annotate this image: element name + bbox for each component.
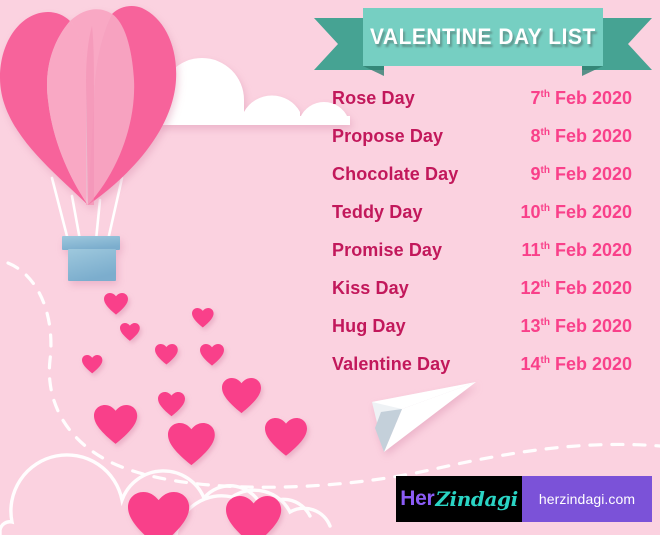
day-name: Valentine Day — [332, 354, 450, 375]
day-name: Rose Day — [332, 88, 415, 109]
date-number: 13 — [520, 316, 540, 336]
date-number: 12 — [520, 278, 540, 298]
date-suffix: th — [541, 317, 550, 328]
day-name: Propose Day — [332, 126, 443, 147]
brand-footer: HerZindagi herzindagi.com — [396, 476, 652, 522]
day-date: 11th Feb 2020 — [521, 240, 632, 261]
logo-text-her: Her — [400, 487, 434, 511]
date-suffix: th — [541, 241, 550, 252]
date-number: 10 — [520, 202, 540, 222]
date-rest: Feb 2020 — [550, 164, 632, 184]
day-name: Promise Day — [332, 240, 442, 261]
date-number: 9 — [530, 164, 540, 184]
banner-title-box: VALENTINE DAY LIST — [363, 8, 603, 66]
list-item: Propose Day 8th Feb 2020 — [332, 117, 632, 155]
day-date: 13th Feb 2020 — [520, 316, 632, 337]
day-date: 12th Feb 2020 — [520, 278, 632, 299]
valentine-week-list: Rose Day 7th Feb 2020 Propose Day 8th Fe… — [332, 79, 632, 383]
list-item: Rose Day 7th Feb 2020 — [332, 79, 632, 117]
balloon-basket — [62, 236, 120, 281]
date-suffix: th — [541, 279, 550, 290]
date-rest: Feb 2020 — [550, 88, 632, 108]
list-item: Promise Day 11th Feb 2020 — [332, 231, 632, 269]
heart-icon — [82, 293, 307, 535]
day-date: 10th Feb 2020 — [520, 202, 632, 223]
banner-ribbon: VALENTINE DAY LIST — [314, 8, 652, 76]
date-suffix: th — [541, 355, 550, 366]
website-url-badge[interactable]: herzindagi.com — [522, 476, 652, 522]
list-item: Valentine Day 14th Feb 2020 — [332, 345, 632, 383]
herzindagi-logo[interactable]: HerZindagi — [396, 476, 522, 522]
day-name: Chocolate Day — [332, 164, 458, 185]
list-item: Hug Day 13th Feb 2020 — [332, 307, 632, 345]
date-rest: Feb 2020 — [550, 240, 632, 260]
paper-plane-icon — [372, 382, 476, 452]
balloon-ropes — [52, 178, 122, 240]
page-title: VALENTINE DAY LIST — [370, 24, 596, 50]
valentine-day-list-poster: VALENTINE DAY LIST Rose Day 7th Feb 2020… — [0, 0, 660, 535]
day-date: 9th Feb 2020 — [530, 164, 632, 185]
date-rest: Feb 2020 — [550, 354, 632, 374]
logo-text-zindagi: Zindagi — [435, 487, 517, 511]
list-item: Teddy Day 10th Feb 2020 — [332, 193, 632, 231]
date-number: 8 — [530, 126, 540, 146]
list-item: Chocolate Day 9th Feb 2020 — [332, 155, 632, 193]
date-suffix: th — [541, 203, 550, 214]
date-suffix: th — [541, 127, 550, 138]
heart-hot-air-balloon-icon — [0, 6, 176, 281]
date-suffix: th — [541, 89, 550, 100]
day-name: Kiss Day — [332, 278, 409, 299]
day-date: 7th Feb 2020 — [530, 88, 632, 109]
date-rest: Feb 2020 — [550, 278, 632, 298]
date-number: 11 — [521, 240, 540, 260]
day-name: Hug Day — [332, 316, 406, 337]
date-suffix: th — [541, 165, 550, 176]
day-date: 8th Feb 2020 — [530, 126, 632, 147]
website-url-text: herzindagi.com — [539, 491, 635, 507]
date-number: 14 — [520, 354, 540, 374]
list-item: Kiss Day 12th Feb 2020 — [332, 269, 632, 307]
date-rest: Feb 2020 — [550, 316, 632, 336]
day-name: Teddy Day — [332, 202, 423, 223]
date-rest: Feb 2020 — [550, 202, 632, 222]
day-date: 14th Feb 2020 — [520, 354, 632, 375]
date-rest: Feb 2020 — [550, 126, 632, 146]
date-number: 7 — [530, 88, 540, 108]
